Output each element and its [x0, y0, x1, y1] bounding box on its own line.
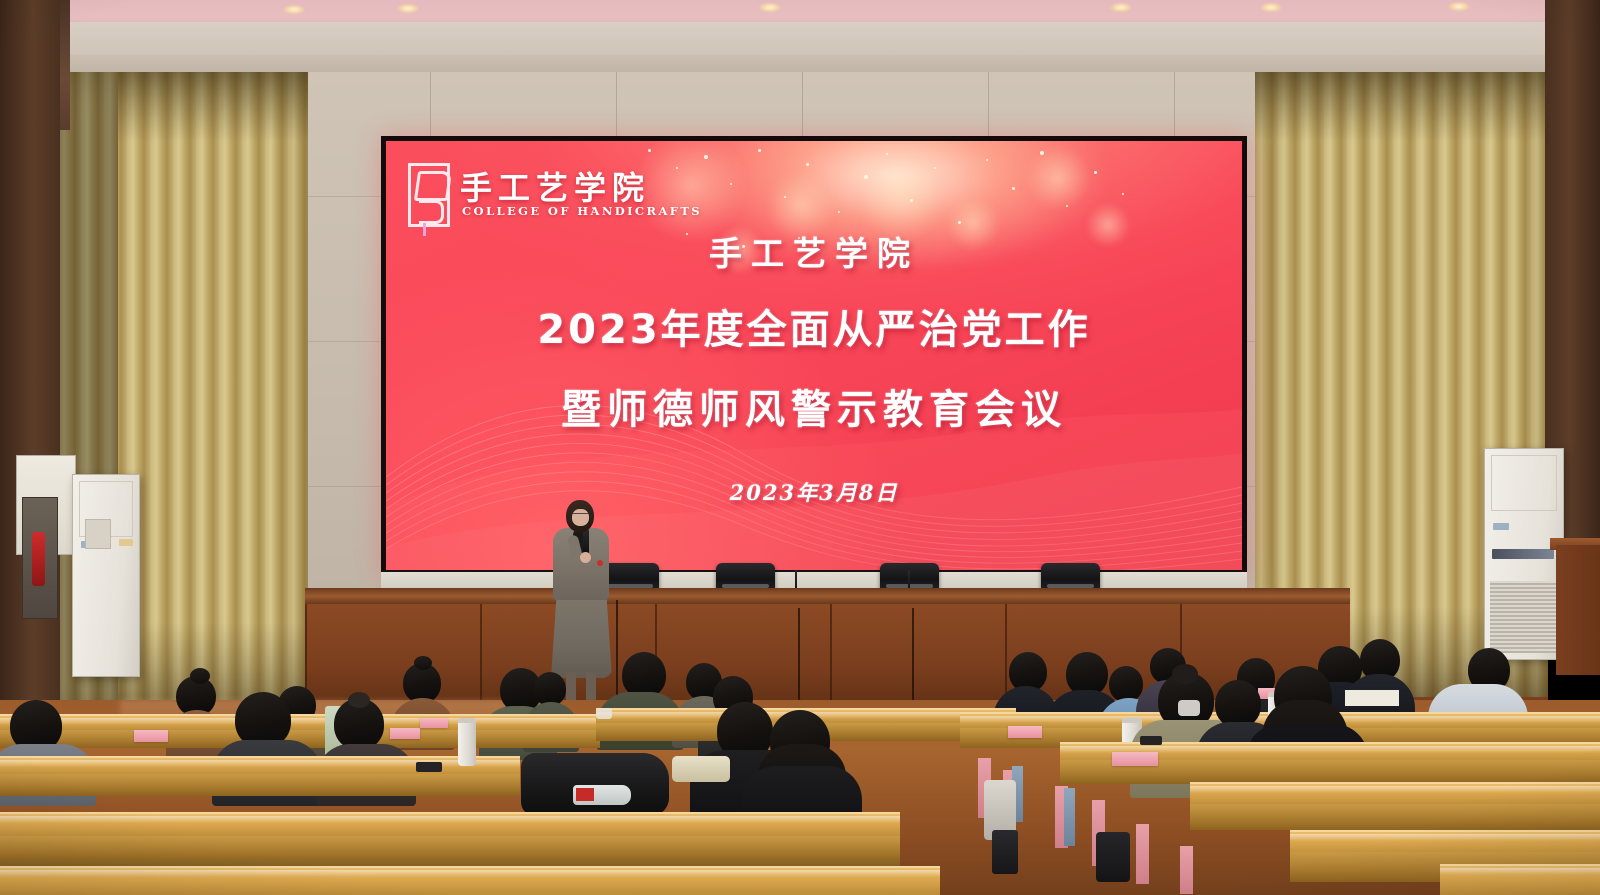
document-papers	[390, 728, 420, 739]
bench-desk	[0, 756, 520, 776]
fire-extinguisher-icon	[32, 532, 45, 586]
glasses-icon	[572, 513, 589, 517]
document-papers	[420, 718, 448, 728]
seat-back	[1064, 788, 1075, 846]
phone-icon	[1140, 736, 1162, 745]
downlight-icon	[1110, 3, 1132, 12]
logo-chinese-name: 手工艺学院	[460, 163, 650, 209]
bench-front	[0, 836, 900, 862]
speaker-badge	[597, 560, 603, 566]
bottle-label	[576, 788, 594, 801]
air-conditioner-left[interactable]	[72, 474, 140, 677]
speaker-hand	[580, 552, 591, 563]
screen-title-block: 手工艺学院 2023年度全面从严治党工作 暨师德师风警示教育会议 2023年3月…	[386, 227, 1242, 507]
ac-vent-grille	[1490, 581, 1558, 653]
downlight-icon	[1260, 3, 1282, 12]
speaker-face	[572, 509, 589, 526]
seat-back	[1180, 846, 1193, 894]
college-seal-icon	[408, 163, 450, 227]
face-mask-icon	[1178, 700, 1200, 716]
bench-highlight	[0, 870, 940, 877]
bench-desk	[1440, 864, 1600, 895]
handheld-microphone-icon	[583, 528, 589, 554]
bench-front	[1190, 804, 1600, 830]
document-papers	[1112, 752, 1158, 766]
ac-display-panel[interactable]	[85, 519, 111, 549]
bench-desk	[0, 866, 940, 895]
led-screen-frame: 手工艺学院 COLLEGE OF HANDICRAFTS 手工艺学院 2023年…	[381, 136, 1247, 577]
led-screen: 手工艺学院 COLLEGE OF HANDICRAFTS 手工艺学院 2023年…	[386, 141, 1242, 572]
bench-desk	[0, 812, 900, 838]
ac-label	[1493, 523, 1509, 530]
seat-back	[1136, 824, 1149, 884]
document-papers	[134, 730, 168, 742]
ac-brand-strip	[1492, 549, 1554, 559]
tote-bag	[672, 756, 730, 782]
downlight-icon	[759, 3, 781, 12]
bag	[992, 830, 1018, 874]
mic-cable	[798, 608, 814, 713]
bench-desk	[0, 714, 600, 731]
bottle-cap	[1122, 718, 1142, 723]
downlight-icon	[283, 5, 305, 14]
downlight-icon	[1448, 2, 1470, 11]
speaker-skirt	[551, 596, 612, 678]
bag	[1096, 832, 1130, 882]
fire-extinguisher-cabinet	[22, 497, 58, 619]
title-line-2: 2023年度全面从严治党工作	[386, 297, 1242, 355]
meeting-date: 2023年3月8日	[386, 477, 1242, 507]
water-bottle	[458, 718, 476, 766]
bench-highlight	[0, 816, 900, 823]
air-conditioner-right[interactable]	[1484, 448, 1564, 660]
face-mask-icon	[596, 708, 612, 719]
title-line-3: 暨师德师风警示教育会议	[386, 377, 1242, 435]
bench-highlight	[1290, 834, 1600, 841]
document-papers	[1008, 726, 1042, 738]
document-papers	[1345, 690, 1399, 706]
bench-highlight	[0, 718, 600, 725]
bench-highlight	[0, 760, 520, 767]
title-line-1: 手工艺学院	[386, 227, 1242, 275]
bench-highlight	[1190, 786, 1600, 793]
bench-highlight	[1440, 868, 1600, 875]
bench-desk	[1190, 782, 1600, 806]
phone-icon	[416, 762, 442, 772]
downlight-icon	[397, 4, 419, 13]
auditorium-scene: 手工艺学院 COLLEGE OF HANDICRAFTS 手工艺学院 2023年…	[0, 0, 1600, 895]
curtain-shade	[1255, 72, 1548, 142]
bottle-cap	[458, 718, 476, 723]
ac-top-frame	[1491, 455, 1557, 511]
ac-sticker	[119, 539, 133, 546]
logo-english-name: COLLEGE OF HANDICRAFTS	[462, 204, 702, 218]
bench-front	[0, 774, 520, 796]
lectern	[1556, 545, 1600, 675]
